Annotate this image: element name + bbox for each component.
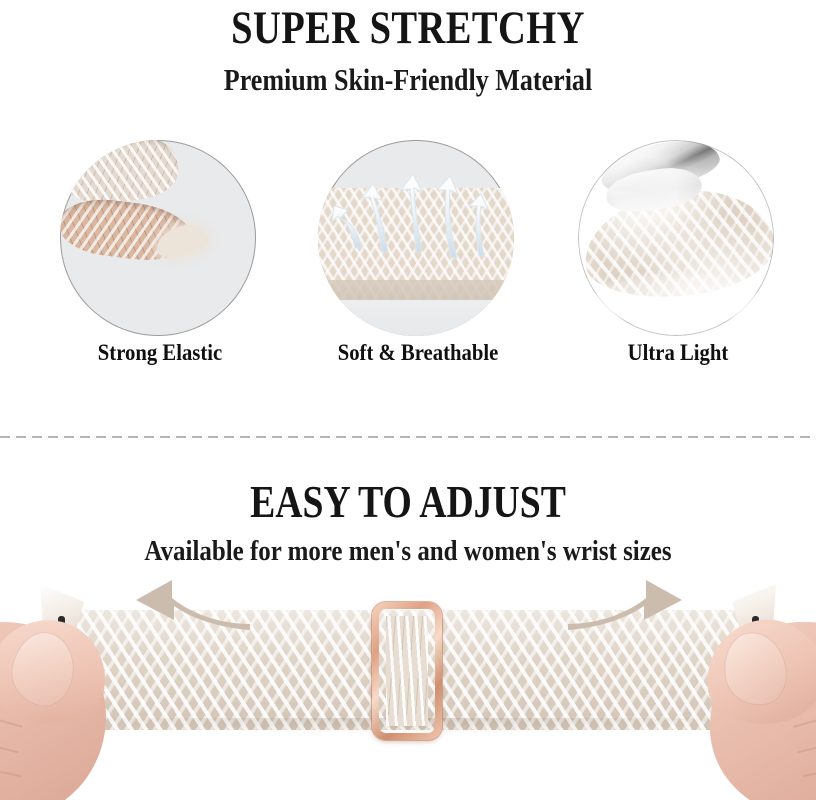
feature-caption: Strong Elastic (70, 340, 250, 366)
section1-subheadline: Premium Skin-Friendly Material (65, 62, 750, 98)
buckle-inner-weave (386, 616, 428, 726)
stretch-arrow-left-icon (132, 574, 252, 632)
feature-circle-row: Strong Elastic (0, 140, 816, 352)
section1-headline: SUPER STRETCHY (73, 2, 742, 54)
section-easy-to-adjust: EASY TO ADJUST Available for more men's … (0, 438, 816, 800)
airflow-arrows-icon (318, 140, 514, 336)
feature-item-strong-elastic: Strong Elastic (60, 140, 260, 346)
strong-elastic-photo (60, 140, 256, 336)
feature-item-soft-breathable: Soft & Breathable (318, 140, 518, 346)
rose-gold-slider-buckle (372, 602, 442, 740)
product-infographic: SUPER STRETCHY Premium Skin-Friendly Mat… (0, 0, 816, 800)
section2-headline: EASY TO ADJUST (73, 476, 742, 528)
stretch-arrow-right-icon (566, 574, 686, 632)
lens-glare (594, 273, 759, 324)
feature-caption: Ultra Light (588, 340, 768, 366)
feature-caption: Soft & Breathable (328, 340, 508, 366)
soft-breathable-photo (318, 140, 514, 336)
section-super-stretchy: SUPER STRETCHY Premium Skin-Friendly Mat… (0, 0, 816, 436)
section2-subheadline: Available for more men's and women's wri… (57, 534, 759, 568)
hands-stretching-band-photo (0, 568, 816, 800)
band-left-lobe (60, 140, 181, 209)
ultra-light-photo (578, 140, 774, 336)
feature-item-ultra-light: Ultra Light (578, 140, 778, 346)
